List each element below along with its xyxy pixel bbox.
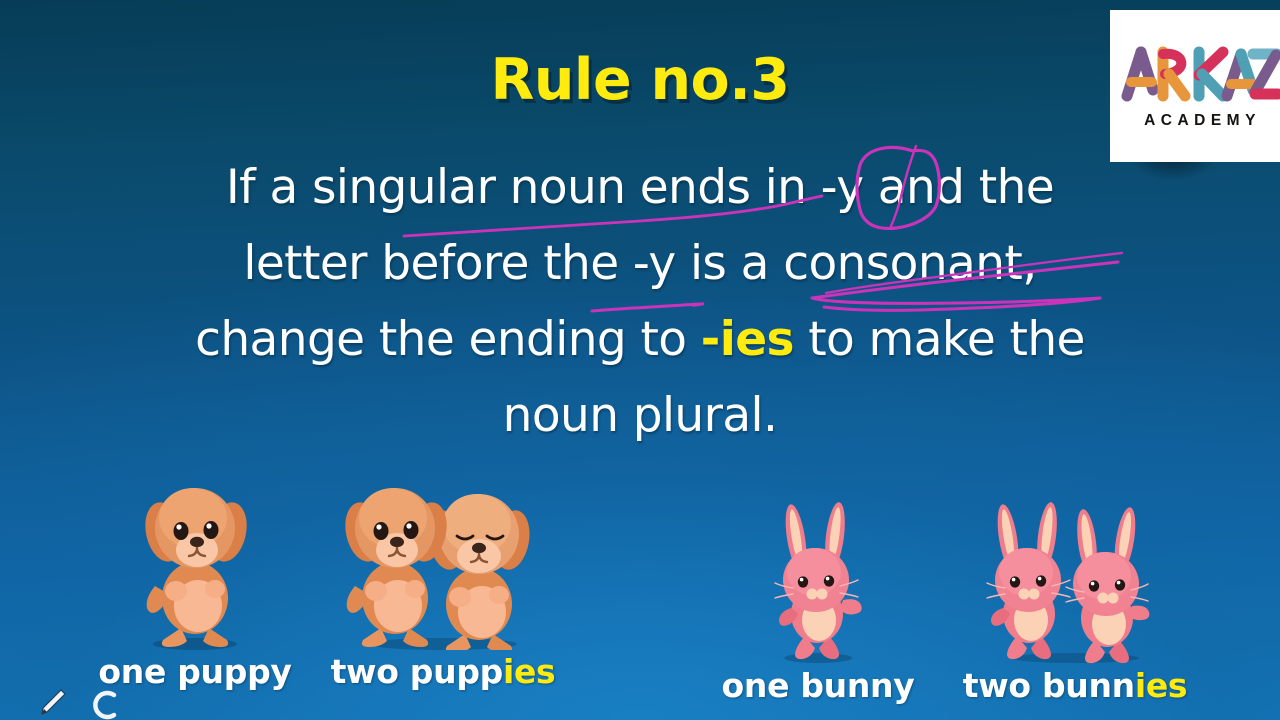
rule-line-4-text: noun plural. [503,388,778,443]
example-two-puppies: two puppies [318,470,568,691]
caption-two-bunnies-suffix: ies [1135,666,1187,705]
page-title: Rule no.3 [0,47,1280,113]
puppy-icon [131,478,259,650]
puppy-pair-icon [337,478,549,650]
rule-line-2-text: letter before the -y is a consonant, [243,236,1036,291]
example-two-bunnies: two bunnies [950,484,1200,705]
caption-two-puppies: two puppies [318,652,568,691]
caption-two-bunnies: two bunnies [950,666,1200,705]
arkaz-logo-subtitle: ACADEMY [1139,112,1261,130]
caption-one-puppy: one puppy [95,652,295,691]
rule-line-3-part-b: to make the [794,312,1085,367]
caption-two-puppies-stem: two pupp [331,652,503,691]
caption-two-puppies-suffix: ies [503,652,555,691]
puppy-art-pair [318,470,568,650]
rule-body-text: If a singular noun ends in -y and the le… [0,150,1280,454]
slide-canvas: Rule no.3 If a singular noun ends in -y … [0,0,1280,720]
puppy-art-single [95,470,295,650]
rule-line-1: If a singular noun ends in -y and the [0,150,1280,226]
rule-line-3: change the ending to -ies to make the [0,302,1280,378]
caption-one-bunny-text: one bunny [722,666,915,705]
bunny-icon [763,496,873,664]
caption-two-bunnies-stem: two bunn [963,666,1135,705]
partial-glyph-mark [88,690,118,720]
arkaz-logo: ACADEMY [1110,10,1280,162]
rule-line-2: letter before the -y is a consonant, [0,226,1280,302]
examples-row: one puppy [0,470,1280,720]
rule-line-1-text: If a singular noun ends in -y and the [226,160,1054,215]
bunny-pair-icon [979,496,1171,664]
pen-tool-cursor-icon[interactable] [38,688,72,718]
caption-one-bunny: one bunny [718,666,918,705]
rule-line-3-part-a: change the ending to [195,312,701,367]
caption-one-puppy-text: one puppy [98,652,291,691]
bunny-art-pair [950,484,1200,664]
arkaz-wordmark-icon [1119,42,1280,102]
rule-line-3-highlight-ies: -ies [701,312,794,367]
bunny-art-single [718,484,918,664]
example-one-bunny: one bunny [718,484,918,705]
example-one-puppy: one puppy [95,470,295,691]
rule-line-4: noun plural. [0,378,1280,454]
